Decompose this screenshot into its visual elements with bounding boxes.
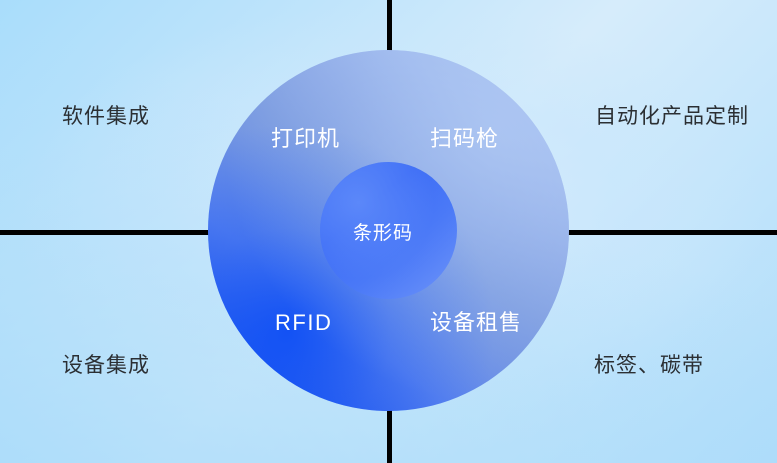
ring-label-printer[interactable]: 打印机 bbox=[271, 128, 340, 150]
quadrant-label-equipment-integration[interactable]: 设备集成 bbox=[62, 355, 150, 376]
quadrant-label-automation-customization[interactable]: 自动化产品定制 bbox=[595, 106, 749, 127]
ring-label-rfid[interactable]: RFID bbox=[275, 312, 332, 334]
diagram-canvas: 打印机 扫码枪 RFID 设备租售 条形码 软件集成 自动化产品定制 设备集成 … bbox=[0, 0, 777, 463]
ring-label-equipment-rental[interactable]: 设备租售 bbox=[430, 312, 522, 334]
quadrant-label-software-integration[interactable]: 软件集成 bbox=[62, 106, 150, 127]
quadrant-label-labels-ribbons[interactable]: 标签、碳带 bbox=[594, 355, 704, 376]
ring-label-scanner[interactable]: 扫码枪 bbox=[430, 128, 499, 150]
center-label-barcode[interactable]: 条形码 bbox=[353, 224, 413, 243]
